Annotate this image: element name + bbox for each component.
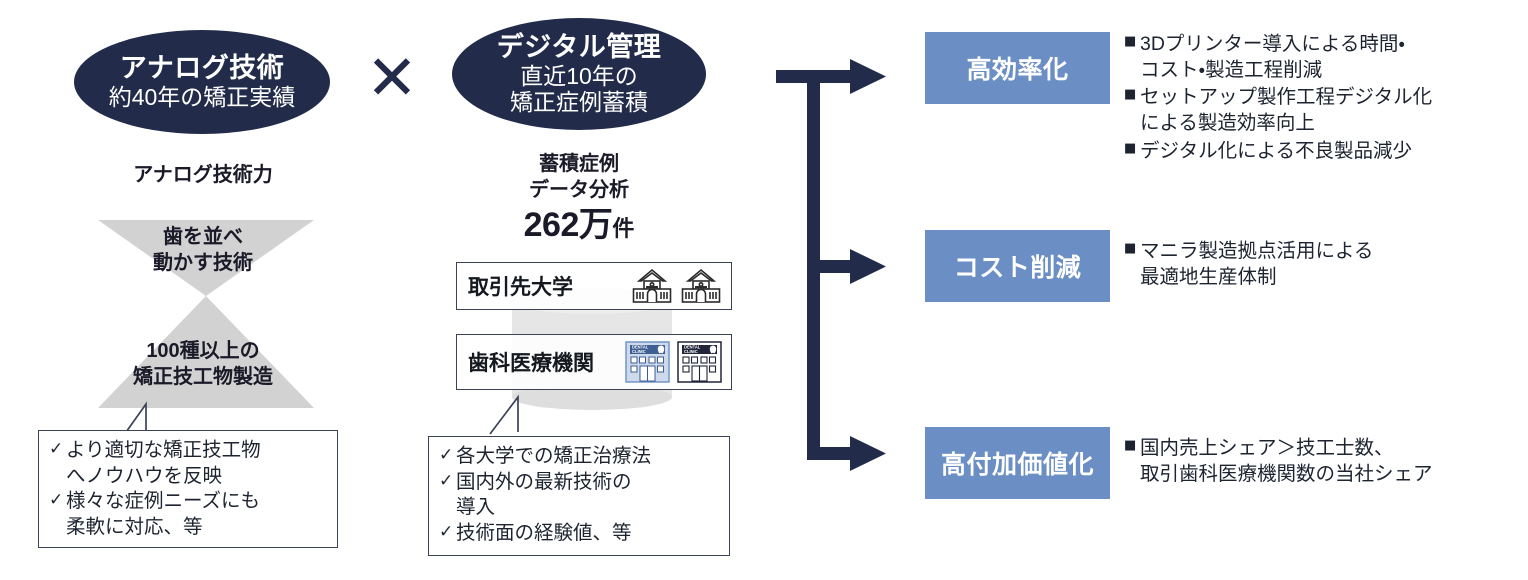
- bullet-item: ■ 国内売上シェア＞技工士数、 取引歯科医療機関数の当社シェア: [1124, 435, 1524, 487]
- digital-oval-title: デジタル管理: [497, 32, 661, 62]
- outcome-box-high-value-added: 高付加価値化: [925, 427, 1110, 499]
- digital-oval-subtitle-line-1: 直近10年の: [520, 64, 638, 90]
- accumulated-cases-line-1: 蓄積症例: [452, 152, 706, 178]
- arrowhead-icon: [850, 249, 886, 284]
- callout-item-text: 各大学での矯正治療法: [456, 444, 719, 470]
- callout-item-text: 国内外の最新技術の 導入: [456, 470, 719, 521]
- accumulated-cases-line-2: データ分析: [452, 178, 706, 204]
- analog-oval-subtitle: 約40年の矯正実績: [109, 85, 296, 111]
- digital-benefits-callout: ✓ 各大学での矯正治療法 ✓ 国内外の最新技術の 導入 ✓ 技術面の経験値、等: [428, 436, 730, 556]
- bullet-item: ■ デジタル化による不良製品減少: [1124, 138, 1524, 164]
- dental-institutions-row: 歯科医療機関 DENTAL CLINIC: [456, 334, 732, 390]
- arrowhead-icon: [850, 436, 886, 471]
- bullet-item: ■ マニラ製造拠点活用による 最適地生産体制: [1124, 238, 1524, 290]
- funnel-lower-line-2: 矯正技工物製造: [80, 364, 326, 390]
- square-bullet-icon: ■: [1124, 138, 1140, 161]
- outcome-bullets-high-value-added: ■ 国内売上シェア＞技工士数、 取引歯科医療機関数の当社シェア: [1124, 435, 1524, 488]
- diagram-canvas: アナログ技術 約40年の矯正実績 ✕ アナログ技術力 歯を並べ 動かす技術 10…: [0, 0, 1528, 580]
- dental-clinic-icon-text-line-2: CLINIC: [632, 349, 646, 354]
- callout-item: ✓ 国内外の最新技術の 導入: [439, 470, 719, 521]
- analog-capability-heading: アナログ技術力: [80, 158, 326, 187]
- check-icon: ✓: [49, 489, 66, 512]
- center-callout-leader-line: [482, 392, 602, 438]
- university-building-icon: [631, 267, 673, 305]
- outcome-box-cost-reduction: コスト削減: [925, 230, 1110, 302]
- funnel-lower-line-1: 100種以上の: [80, 338, 326, 364]
- check-icon: ✓: [49, 438, 66, 461]
- university-icon-group: [573, 267, 731, 305]
- university-building-icon: [680, 267, 722, 305]
- accumulated-cases-heading: 蓄積症例 データ分析: [452, 152, 706, 203]
- bullet-text: マニラ製造拠点活用による 最適地生産体制: [1140, 238, 1524, 290]
- funnel-lower-text: 100種以上の 矯正技工物製造: [80, 338, 326, 390]
- case-count-unit: 件: [612, 216, 634, 241]
- partner-universities-label: 取引先大学: [457, 271, 573, 301]
- callout-item: ✓ 各大学での矯正治療法: [439, 444, 719, 470]
- analog-technology-oval: アナログ技術 約40年の矯正実績: [74, 30, 330, 134]
- funnel-upper-text: 歯を並べ 動かす技術: [80, 224, 326, 276]
- bullet-text: 国内売上シェア＞技工士数、 取引歯科医療機関数の当社シェア: [1140, 435, 1524, 487]
- check-icon: ✓: [439, 444, 456, 467]
- outcome-bullets-efficiency: ■ 3Dプリンター導入による時間・ コスト・製造工程削減 ■ セットアップ製作工…: [1124, 31, 1524, 165]
- bullet-item: ■ 3Dプリンター導入による時間・ コスト・製造工程削減: [1124, 31, 1524, 83]
- case-count-number: 262万: [524, 206, 613, 244]
- dental-clinic-icon-text-line-2: CLINIC: [684, 349, 698, 354]
- callout-item-text: より適切な矯正技工物 へノウハウを反映: [66, 438, 327, 489]
- dental-institutions-label: 歯科医療機関: [457, 347, 594, 377]
- case-count-value: 262万件: [452, 208, 706, 242]
- callout-item-text: 様々な症例ニーズにも 柔軟に対応、等: [66, 489, 327, 540]
- multiply-icon: ✕: [364, 52, 420, 108]
- check-icon: ✓: [439, 470, 456, 493]
- partner-universities-row: 取引先大学: [456, 262, 732, 310]
- outcome-bullets-cost-reduction: ■ マニラ製造拠点活用による 最適地生産体制: [1124, 238, 1524, 291]
- digital-oval-subtitle-line-2: 矯正症例蓄積: [510, 90, 648, 116]
- bullet-item: ■ セットアップ製作工程デジタル化 による製造効率向上: [1124, 84, 1524, 136]
- callout-item: ✓ 技術面の経験値、等: [439, 521, 719, 547]
- funnel-upper-line-2: 動かす技術: [80, 250, 326, 276]
- callout-item: ✓ 様々な症例ニーズにも 柔軟に対応、等: [49, 489, 327, 540]
- branching-arrow-connector: [776, 42, 916, 492]
- analog-benefits-callout: ✓ より適切な矯正技工物 へノウハウを反映 ✓ 様々な症例ニーズにも 柔軟に対応…: [38, 430, 338, 548]
- bullet-text: 3Dプリンター導入による時間・ コスト・製造工程削減: [1140, 31, 1524, 83]
- square-bullet-icon: ■: [1124, 435, 1140, 458]
- funnel-upper-line-1: 歯を並べ: [80, 224, 326, 250]
- outcome-box-efficiency: 高効率化: [925, 32, 1110, 104]
- check-icon: ✓: [439, 521, 456, 544]
- dental-clinic-icon-group: DENTAL CLINIC DENTAL CLINIC: [594, 340, 731, 384]
- bullet-text: セットアップ製作工程デジタル化 による製造効率向上: [1140, 84, 1524, 136]
- bullet-text: デジタル化による不良製品減少: [1140, 138, 1524, 164]
- square-bullet-icon: ■: [1124, 31, 1140, 54]
- callout-item-text: 技術面の経験値、等: [456, 521, 719, 547]
- square-bullet-icon: ■: [1124, 84, 1140, 107]
- analog-oval-title: アナログ技術: [120, 53, 284, 83]
- arrowhead-icon: [850, 59, 886, 94]
- callout-item: ✓ より適切な矯正技工物 へノウハウを反映: [49, 438, 327, 489]
- dental-clinic-building-icon: DENTAL CLINIC: [677, 340, 722, 384]
- dental-clinic-building-icon: DENTAL CLINIC: [625, 340, 670, 384]
- square-bullet-icon: ■: [1124, 238, 1140, 261]
- digital-management-oval: デジタル管理 直近10年の 矯正症例蓄積: [452, 18, 706, 130]
